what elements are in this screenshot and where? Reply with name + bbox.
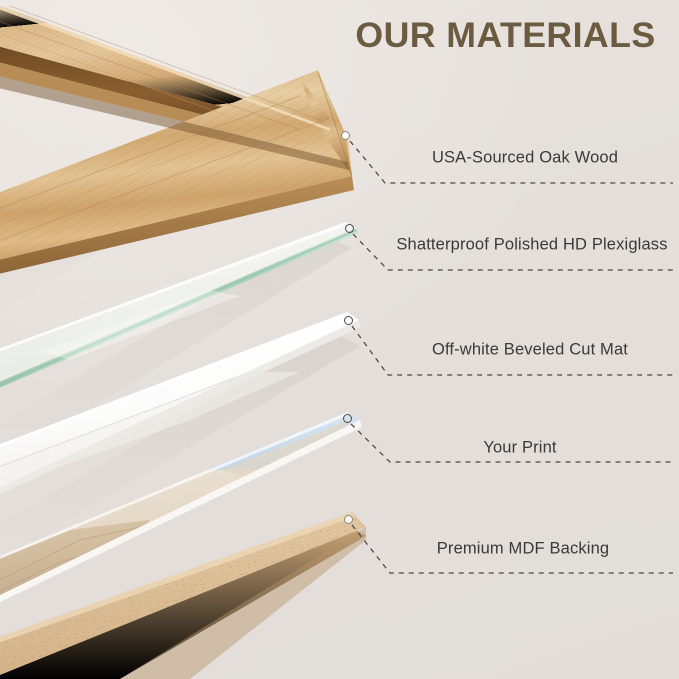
callout-marker-your-print[interactable] bbox=[343, 414, 352, 423]
infographic-canvas: OUR MATERIALS USA-Sourced Oak Wood bbox=[0, 0, 679, 679]
callout-marker-plexiglass[interactable] bbox=[345, 224, 354, 233]
callout-label-oak-wood: USA-Sourced Oak Wood bbox=[432, 149, 618, 168]
callout-marker-oak-wood[interactable] bbox=[341, 131, 350, 140]
callout-label-mdf-backing: Premium MDF Backing bbox=[437, 540, 609, 559]
callout-group: USA-Sourced Oak Wood Shatterproof Polish… bbox=[0, 0, 679, 679]
callout-marker-cut-mat[interactable] bbox=[344, 316, 353, 325]
callout-leader-lines bbox=[0, 0, 679, 679]
callout-label-your-print: Your Print bbox=[483, 439, 556, 458]
callout-label-plexiglass: Shatterproof Polished HD Plexiglass bbox=[396, 236, 667, 255]
callout-marker-mdf-backing[interactable] bbox=[344, 515, 353, 524]
callout-label-cut-mat: Off-white Beveled Cut Mat bbox=[432, 341, 628, 360]
